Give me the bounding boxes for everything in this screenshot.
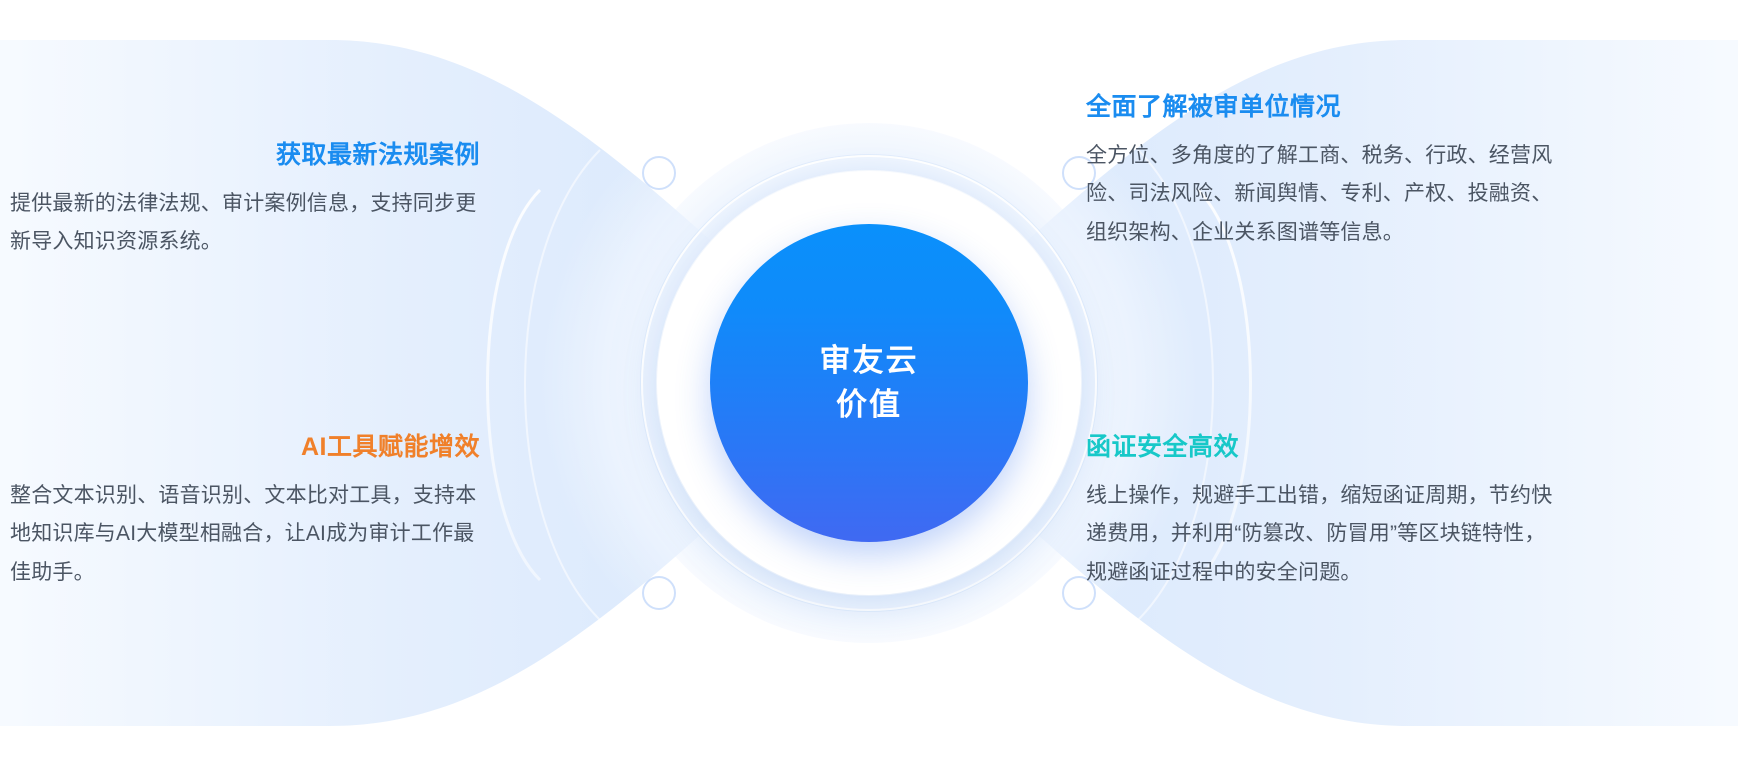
feature-title-top-left: 获取最新法规案例 — [10, 140, 480, 171]
ring-dot-top-left-icon — [642, 156, 676, 190]
feature-body-bottom-left: 整合文本识别、语音识别、文本比对工具，支持本地知识库与AI大模型相融合，让AI成… — [10, 477, 480, 592]
center-core-circle: 审友云 价值 — [710, 224, 1028, 542]
center-title-line-2: 价值 — [836, 383, 902, 427]
center-title-line-1: 审友云 — [820, 339, 919, 383]
feature-title-bottom-left: AI工具赋能增效 — [10, 432, 480, 463]
feature-block-top-left: 获取最新法规案例 提供最新的法律法规、审计案例信息，支持同步更新导入知识资源系统… — [10, 140, 480, 262]
feature-body-top-left: 提供最新的法律法规、审计案例信息，支持同步更新导入知识资源系统。 — [10, 185, 480, 261]
feature-block-bottom-right: 函证安全高效 线上操作，规避手工出错，缩短函证周期，节约快递费用，并利用“防篡改… — [1086, 432, 1556, 592]
feature-body-top-right: 全方位、多角度的了解工商、税务、行政、经营风险、司法风险、新闻舆情、专利、产权、… — [1086, 137, 1556, 252]
infographic-canvas: 审友云 价值 获取最新法规案例 提供最新的法律法规、审计案例信息，支持同步更新导… — [0, 0, 1738, 766]
center-ring-assembly: 审友云 价值 — [609, 123, 1129, 643]
feature-title-bottom-right: 函证安全高效 — [1086, 432, 1556, 463]
feature-block-top-right: 全面了解被审单位情况 全方位、多角度的了解工商、税务、行政、经营风险、司法风险、… — [1086, 92, 1556, 252]
feature-block-bottom-left: AI工具赋能增效 整合文本识别、语音识别、文本比对工具，支持本地知识库与AI大模… — [10, 432, 480, 592]
feature-title-top-right: 全面了解被审单位情况 — [1086, 92, 1556, 123]
feature-body-bottom-right: 线上操作，规避手工出错，缩短函证周期，节约快递费用，并利用“防篡改、防冒用”等区… — [1086, 477, 1556, 592]
ring-dot-bottom-left-icon — [642, 576, 676, 610]
